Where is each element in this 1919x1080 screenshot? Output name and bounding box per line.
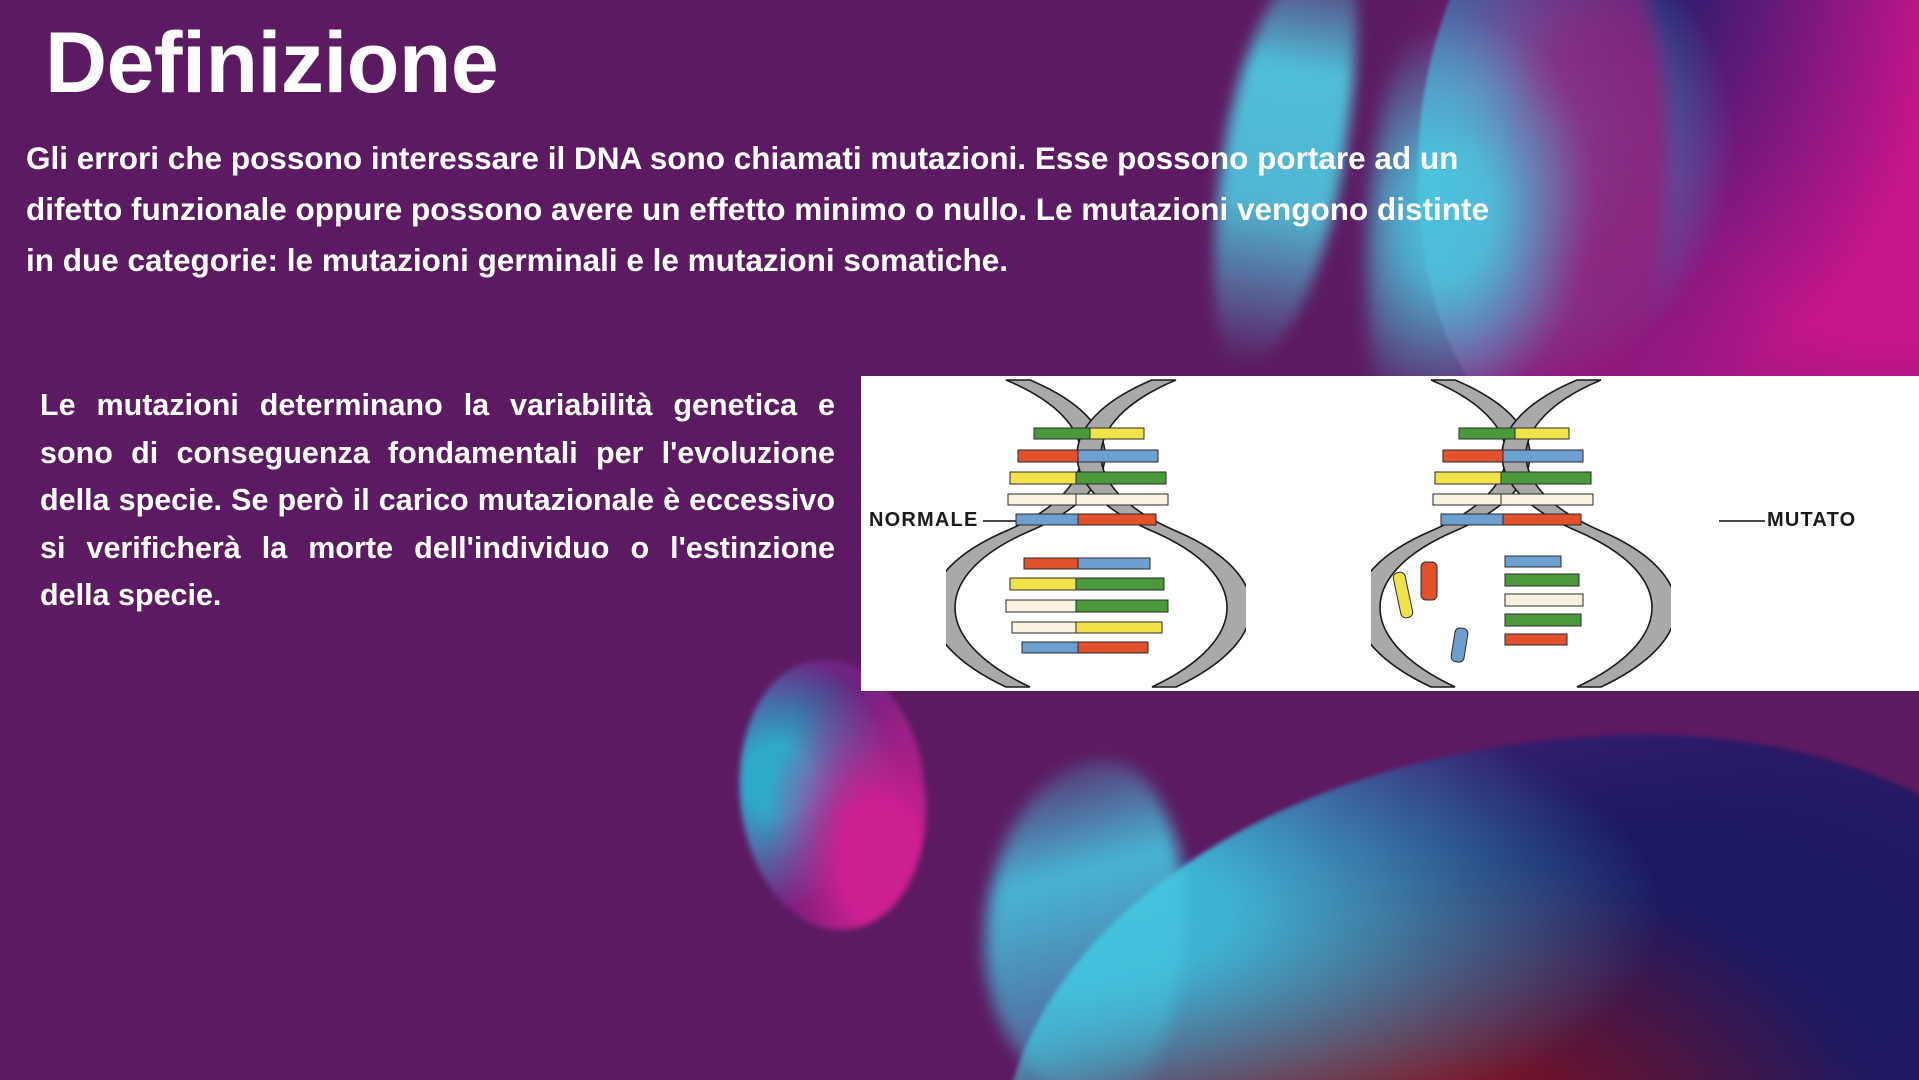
page-title: Definizione bbox=[45, 18, 498, 108]
dna-helix-normal-svg bbox=[946, 376, 1246, 691]
dna-helix-normal bbox=[946, 376, 1246, 691]
leader-line-mutato bbox=[1719, 520, 1765, 522]
slide-content: Definizione Gli errori che possono inter… bbox=[0, 0, 1919, 1080]
intro-paragraph: Gli errori che possono interessare il DN… bbox=[26, 133, 1516, 286]
dna-mutation-figure: NORMALE MUTATO bbox=[861, 376, 1919, 691]
figure-label-mutato: MUTATO bbox=[1767, 509, 1856, 532]
dna-helix-mutated-svg bbox=[1371, 376, 1671, 691]
detail-paragraph: Le mutazioni determinano la variabilità … bbox=[40, 382, 835, 620]
dna-helix-mutated bbox=[1371, 376, 1671, 691]
